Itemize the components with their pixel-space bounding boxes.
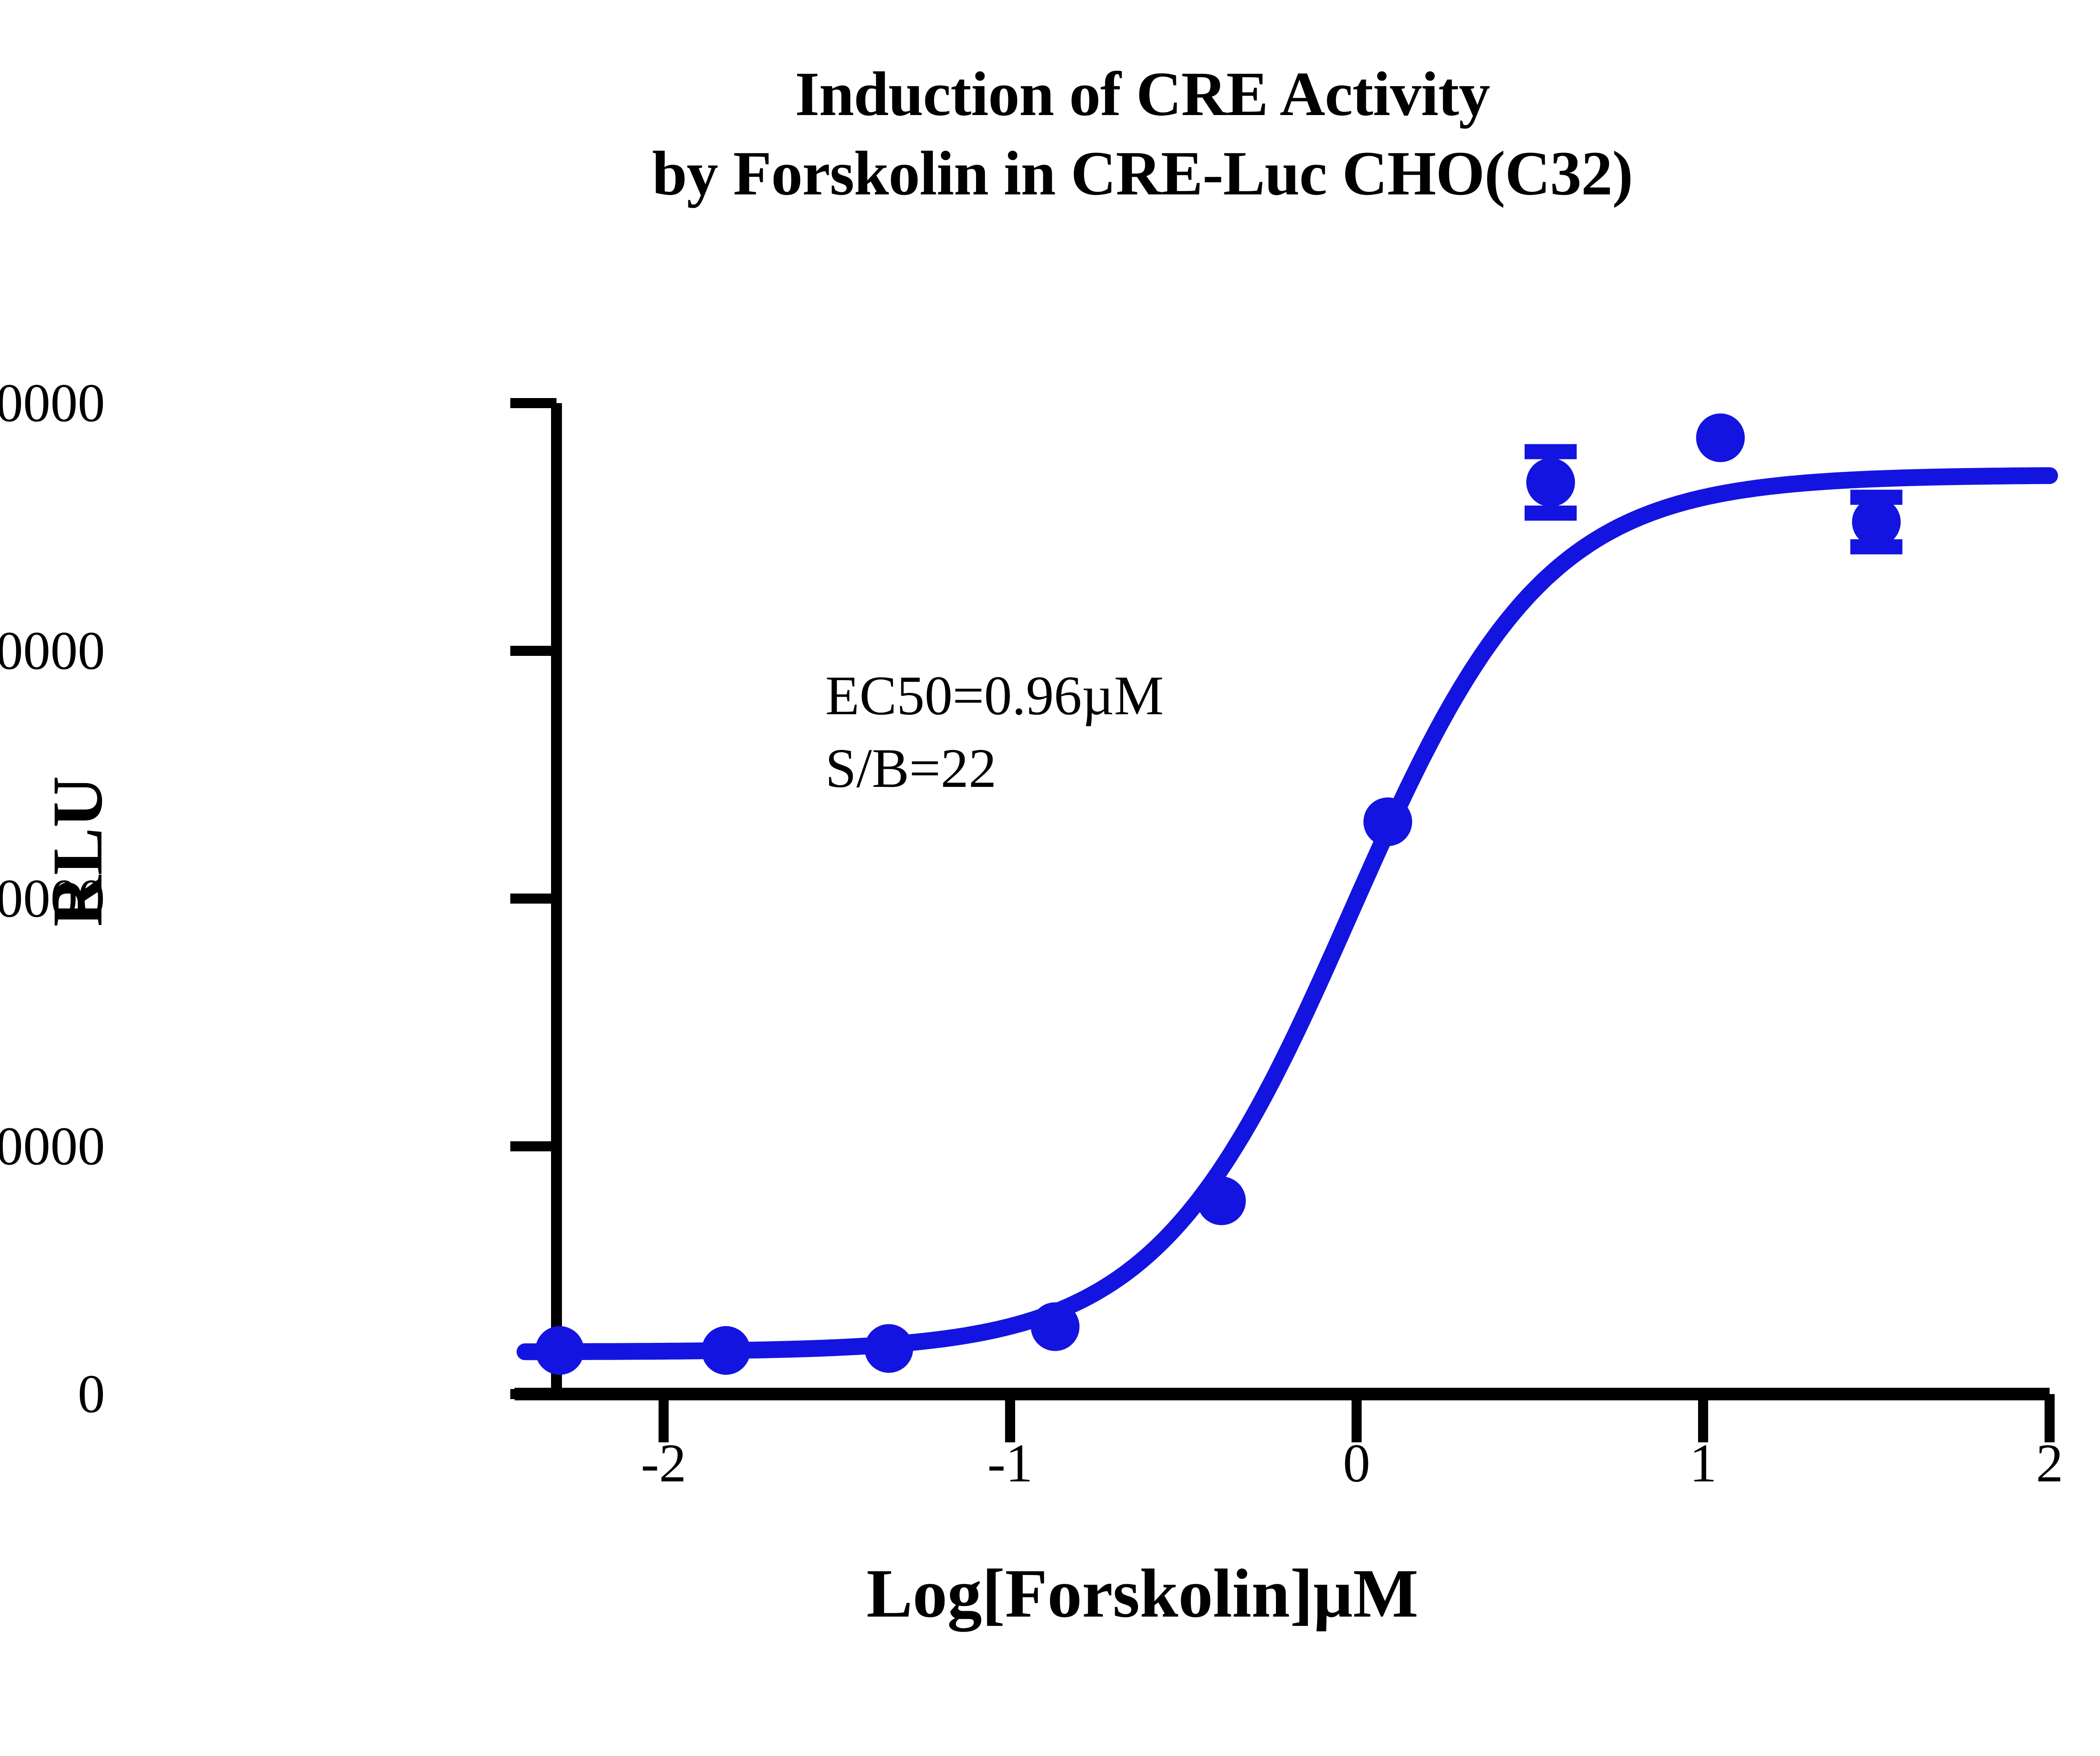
- fit-curve-path: [525, 476, 2050, 1352]
- data-point-marker: [1526, 458, 1575, 507]
- data-point-marker: [535, 1326, 584, 1375]
- plot-graphics: [0, 0, 2100, 1756]
- data-point-marker: [1031, 1303, 1079, 1351]
- fit-curve: [525, 476, 2050, 1352]
- data-point-marker: [1852, 498, 1901, 546]
- chart-canvas: Induction of CRE Activity by Forskolin i…: [0, 0, 2100, 1756]
- data-point-marker: [1696, 414, 1745, 462]
- data-point-marker: [702, 1326, 751, 1375]
- axes: [510, 403, 2050, 1442]
- data-points: [535, 414, 1903, 1375]
- data-point-marker: [1363, 797, 1412, 846]
- data-point-marker: [864, 1324, 913, 1373]
- data-point-marker: [1197, 1177, 1246, 1225]
